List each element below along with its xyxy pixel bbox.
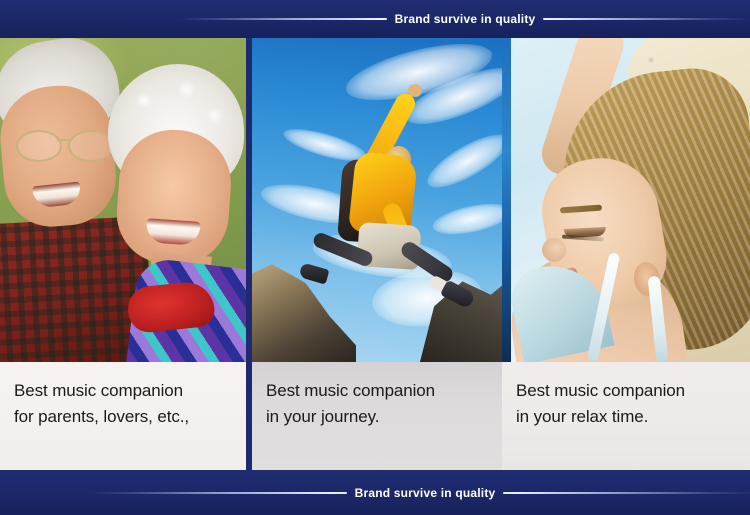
- nose: [542, 238, 566, 262]
- panel-family[interactable]: Best music companion for parents, lovers…: [0, 38, 246, 470]
- banner-rule-left-icon: [180, 18, 387, 20]
- caption-line: Best music companion: [14, 378, 246, 404]
- promo-banner-page: Brand survive in quality: [0, 0, 750, 515]
- caption-relax: Best music companion in your relax time.: [502, 362, 750, 470]
- caption-line: in your journey.: [266, 404, 502, 430]
- right-shoe: [440, 279, 476, 309]
- top-banner-inner: Brand survive in quality: [180, 10, 750, 28]
- bottom-banner-text: Brand survive in quality: [347, 487, 504, 499]
- red-scarf: [126, 280, 216, 335]
- photo-elderly-couple: [0, 38, 246, 362]
- hiker-figure: [314, 90, 494, 320]
- eyeglasses-icon: [16, 130, 120, 160]
- banner-rule-right-icon: [503, 492, 750, 494]
- caption-journey: Best music companion in your journey.: [252, 362, 502, 470]
- panel-relax[interactable]: Best music companion in your relax time.: [502, 38, 750, 470]
- top-banner-text: Brand survive in quality: [387, 13, 544, 25]
- banner-rule-right-icon: [543, 18, 750, 20]
- banner-rule-left-icon: [90, 492, 347, 494]
- woman-face: [113, 126, 234, 267]
- panel-row: Best music companion for parents, lovers…: [0, 38, 750, 470]
- caption-line: Best music companion: [516, 378, 750, 404]
- photo-jumping-hiker: [252, 38, 502, 362]
- blue-edge-strip: [502, 38, 511, 362]
- panel-journey[interactable]: Best music companion in your journey.: [252, 38, 502, 470]
- caption-line: for parents, lovers, etc.,: [14, 404, 246, 430]
- caption-family: Best music companion for parents, lovers…: [0, 362, 246, 470]
- left-shoe: [298, 262, 329, 284]
- bottom-banner-inner: Brand survive in quality: [90, 484, 750, 502]
- caption-line: Best music companion: [266, 378, 502, 404]
- lens-left: [16, 130, 62, 162]
- top-banner: Brand survive in quality: [0, 0, 750, 38]
- bottom-banner: Brand survive in quality: [0, 470, 750, 515]
- photo-relaxing-woman: [502, 38, 750, 362]
- caption-line: in your relax time.: [516, 404, 750, 430]
- raised-hand: [408, 84, 422, 97]
